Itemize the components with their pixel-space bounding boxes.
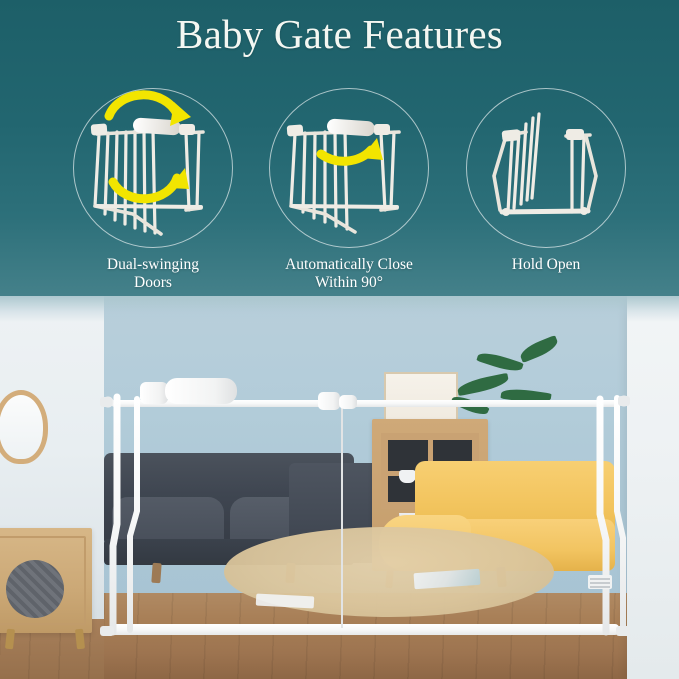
installed-baby-gate (0, 296, 679, 679)
feature-item-hold-open[interactable]: Hold Open (446, 88, 646, 303)
feature-label: Automatically Close Within 90° (249, 256, 449, 291)
feature-item-auto-close[interactable]: Automatically Close Within 90° (249, 88, 449, 303)
baby-gate-dual-swing-icon (73, 88, 233, 248)
feature-label-line1: Hold Open (512, 256, 580, 273)
feature-label-line2: Within 90° (315, 274, 383, 291)
baby-gate-auto-close-icon (269, 88, 429, 248)
baby-gate-hold-open-icon (466, 88, 626, 248)
feature-label-line2: Doors (134, 274, 172, 291)
feature-label: Dual-swinging Doors (53, 256, 253, 291)
product-feature-poster: Baby Gate Features (0, 0, 679, 679)
feature-list: Dual-swinging Doors (0, 88, 679, 303)
lifestyle-photo (0, 296, 679, 679)
feature-label-line1: Dual-swinging (107, 256, 199, 273)
feature-item-dual-swinging-doors[interactable]: Dual-swinging Doors (53, 88, 253, 303)
feature-label-line1: Automatically Close (285, 256, 413, 273)
feature-label: Hold Open (446, 256, 646, 274)
page-title: Baby Gate Features (0, 8, 679, 60)
